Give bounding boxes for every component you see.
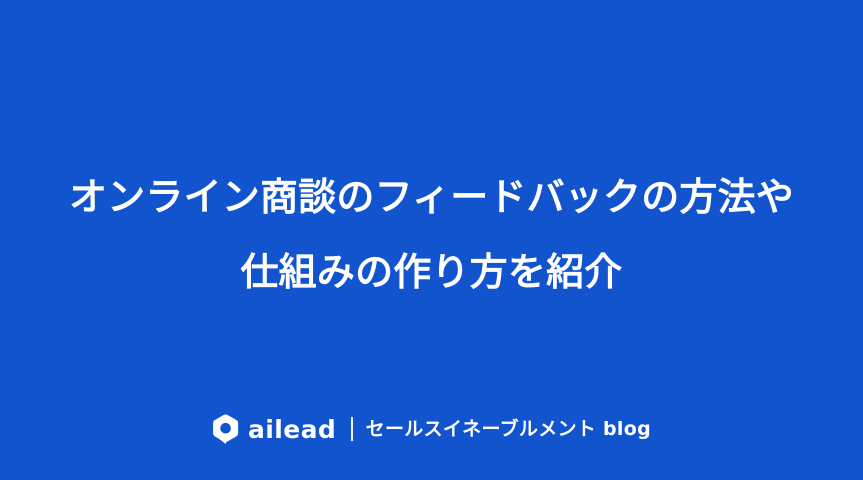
page-title-line-1: オンライン商談のフィードバックの方法や [24, 160, 839, 235]
ailead-hexagon-logo-icon [212, 414, 239, 444]
page-title: オンライン商談のフィードバックの方法や 仕組みの作り方を紹介 [0, 160, 863, 310]
brand-tagline: セールスイネーブルメント blog [366, 420, 651, 439]
brand-footer: ailead セールスイネーブルメント blog [0, 414, 863, 444]
blog-title-card: オンライン商談のフィードバックの方法や 仕組みの作り方を紹介 ailead セー… [0, 0, 863, 480]
brand-divider [351, 417, 353, 441]
page-title-line-2: 仕組みの作り方を紹介 [24, 235, 839, 310]
brand-wordmark: ailead [248, 417, 336, 442]
